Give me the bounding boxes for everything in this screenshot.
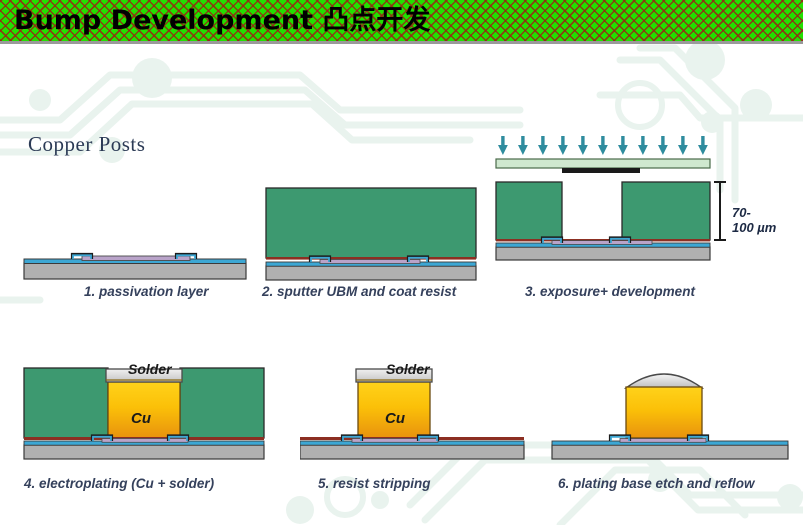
caption-step5: 5. resist stripping (318, 476, 431, 491)
photomask-plate (496, 159, 710, 168)
exposure-arrow-group (498, 136, 708, 155)
dimension-line1: 70- (732, 205, 776, 220)
section-heading: Copper Posts (28, 132, 145, 157)
caption-step4: 4. electroplating (Cu + solder) (24, 476, 214, 491)
step3-cross-section (492, 136, 732, 281)
page-title: Bump Development 凸点开发 (14, 2, 430, 40)
label-solder-step5: Solder (386, 361, 430, 377)
step2-cross-section (262, 186, 484, 282)
step6-cross-section (548, 360, 792, 465)
caption-step2: 2. sputter UBM and coat resist (262, 284, 456, 299)
title-banner: Bump Development 凸点开发 (0, 0, 803, 44)
caption-step3: 3. exposure+ development (525, 284, 695, 299)
caption-step1: 1. passivation layer (84, 284, 209, 299)
dimension-indicator (714, 182, 726, 240)
step1-cross-section (20, 245, 260, 285)
figure-step6 (548, 360, 792, 470)
caption-step6: 6. plating base etch and reflow (558, 476, 755, 491)
dimension-line2: 100 µm (732, 220, 776, 235)
label-copper-step4: Cu (131, 410, 151, 427)
reflowed-solder-dome (626, 374, 702, 388)
photomask-chrome (562, 168, 640, 173)
label-solder-step4: Solder (128, 361, 172, 377)
figure-step2 (262, 186, 484, 287)
figure-step3 (492, 136, 732, 286)
dimension-label: 70- 100 µm (732, 205, 776, 235)
label-copper-step5: Cu (385, 410, 405, 427)
